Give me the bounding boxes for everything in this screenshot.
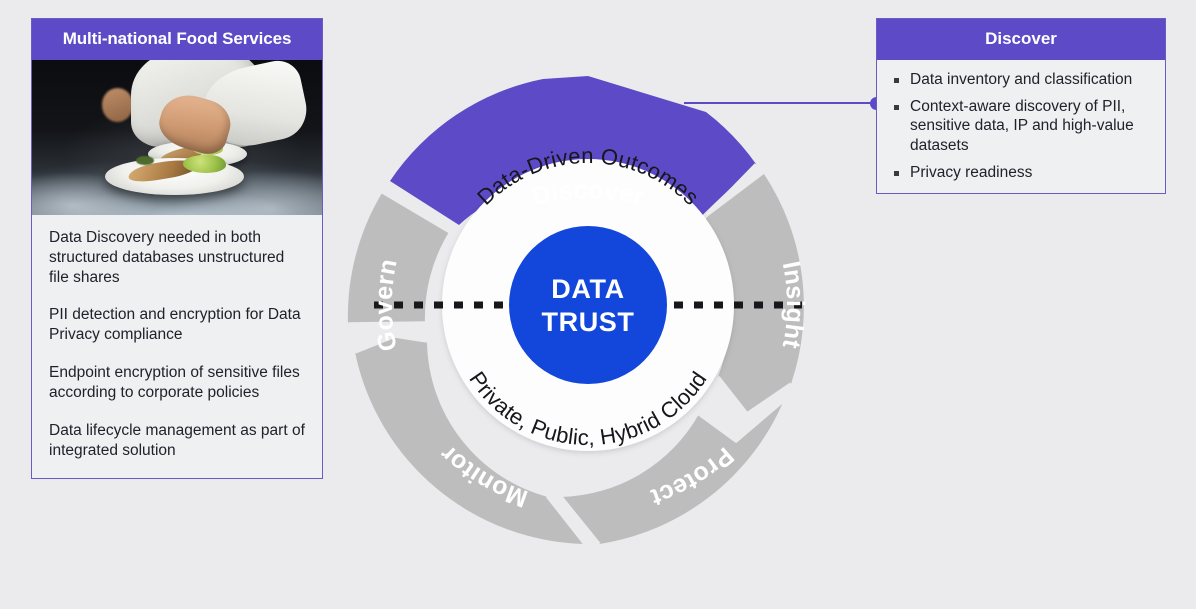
segment-label-insight: Insight: [777, 259, 810, 351]
core-circle: [509, 226, 667, 384]
list-item: Endpoint encryption of sensitive files a…: [49, 363, 308, 403]
chef-plating-photo: [32, 60, 322, 215]
photo-garnish-front: [183, 155, 227, 174]
discover-detail-panel: Discover Data inventory and classificati…: [876, 18, 1166, 194]
list-item: Data lifecycle management as part of int…: [49, 421, 308, 461]
discover-detail-body: Data inventory and classification Contex…: [877, 60, 1165, 193]
core-title-line1: DATA: [551, 274, 624, 304]
wheel-svg: Data-Driven Outcomes Private, Public, Hy…: [336, 62, 840, 548]
case-study-title: Multi-national Food Services: [32, 19, 322, 60]
case-study-panel: Multi-national Food Services Data Discov…: [31, 18, 323, 479]
list-item: Context-aware discovery of PII, sensitiv…: [887, 97, 1155, 156]
discover-detail-list: Data inventory and classification Contex…: [887, 70, 1155, 182]
list-item: Privacy readiness: [887, 163, 1155, 183]
case-study-list: Data Discovery needed in both structured…: [32, 215, 322, 478]
list-item: Data inventory and classification: [887, 70, 1155, 90]
list-item: PII detection and encryption for Data Pr…: [49, 305, 308, 345]
segment-label-govern: Govern: [370, 257, 403, 354]
core-title-line2: TRUST: [542, 307, 635, 337]
data-trust-wheel-diagram: Data-Driven Outcomes Private, Public, Hy…: [336, 62, 840, 548]
list-item: Data Discovery needed in both structured…: [49, 228, 308, 287]
discover-detail-title: Discover: [877, 19, 1165, 60]
photo-chef-head: [102, 88, 134, 122]
